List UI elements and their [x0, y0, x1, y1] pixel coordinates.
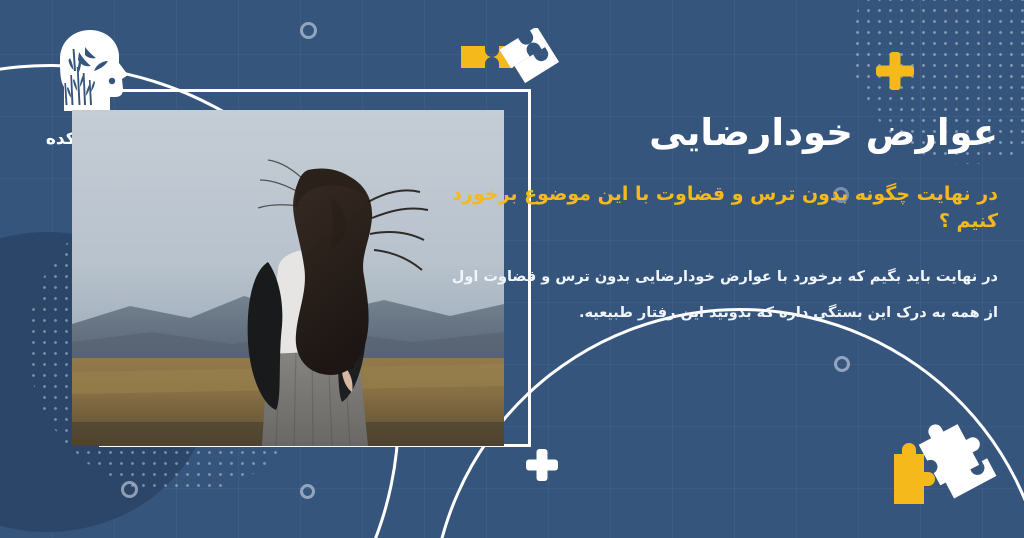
circle-outline-icon: [834, 356, 850, 372]
copy-block: عوارض خودارضایی در نهایت چگونه بدون ترس …: [438, 110, 998, 331]
plus-icon: [876, 52, 914, 90]
body-line: از همه به درک این بستگی داره که بدونید ا…: [438, 296, 998, 332]
page-title: عوارض خودارضایی: [438, 110, 998, 155]
body-copy: در نهایت باید بگیم که برخورد با عوارض خو…: [438, 260, 998, 331]
circle-outline-icon: [300, 484, 315, 499]
poster-canvas: مشاورکده: [0, 0, 1024, 538]
circle-outline-icon: [121, 481, 138, 498]
circle-outline-icon: [300, 22, 317, 39]
puzzle-pieces-icon: [880, 418, 1000, 528]
plus-icon: [526, 449, 558, 481]
body-line: در نهایت باید بگیم که برخورد با عوارض خو…: [438, 260, 998, 296]
page-subtitle: در نهایت چگونه بدون ترس و قضاوت با این م…: [438, 181, 998, 234]
